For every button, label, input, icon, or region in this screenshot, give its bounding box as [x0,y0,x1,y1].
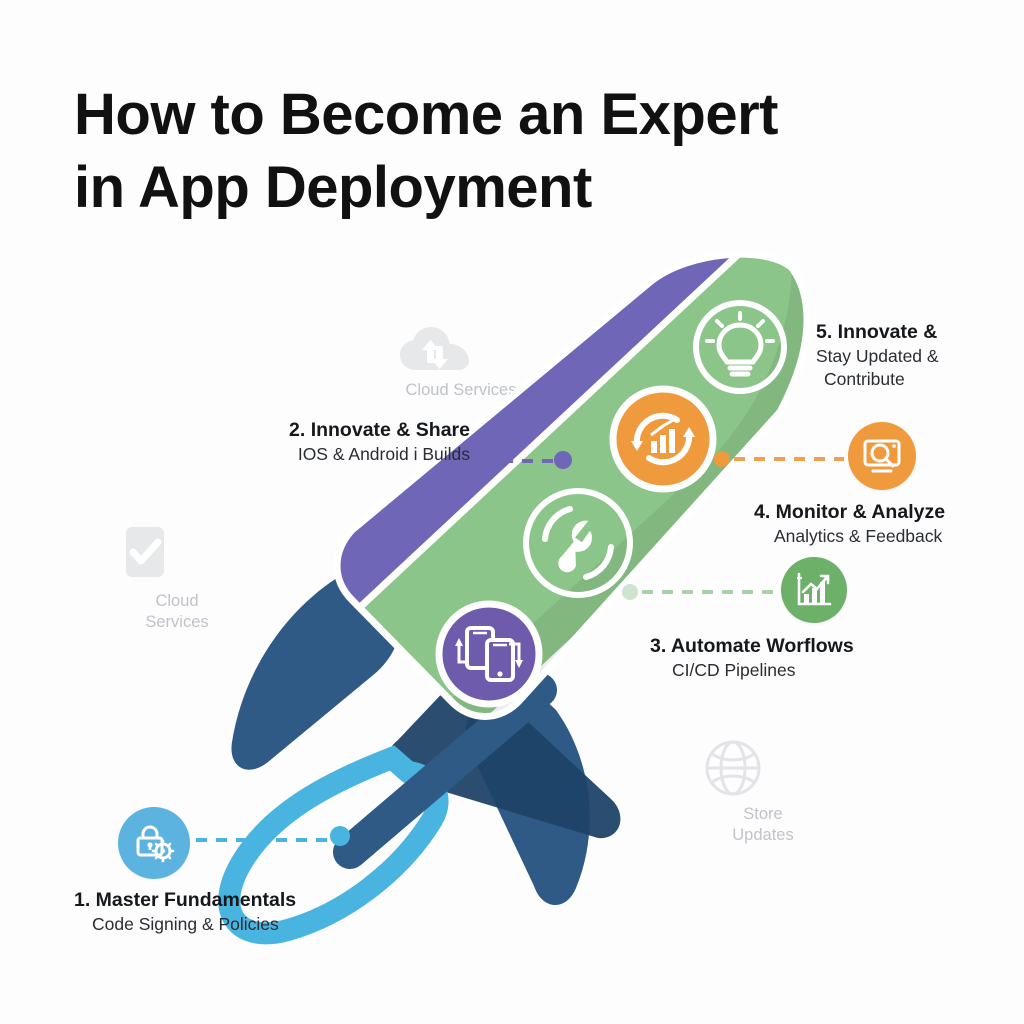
connector-dot-step-2 [554,451,572,469]
callout-step-5: 5. Innovate & Stay Updated & Contribute [816,320,1024,390]
connector-step-3 [622,584,778,600]
callout-step-4: 4. Monitor & Analyze Analytics & Feedbac… [754,500,1024,548]
rocket-badge-refresh-chart [613,389,713,489]
infographic-canvas: How to Become an Expert in App Deploymen… [0,0,1024,1024]
callout-step-2: 2. Innovate & Share IOS & Android i Buil… [196,418,470,466]
growth-chart-icon [794,570,834,610]
badge-lock-gear[interactable] [118,807,190,879]
step-5-subtitle-line2: Contribute [824,368,1024,391]
step-1-title: 1. Master Fundamentals [74,888,394,913]
connector-dot-step-3 [622,584,638,600]
badge-growth-chart[interactable] [781,557,847,623]
step-1-subtitle: Code Signing & Policies [92,913,394,936]
step-4-subtitle: Analytics & Feedback [774,525,1024,548]
callout-step-1: 1. Master Fundamentals Code Signing & Po… [74,888,394,936]
lock-gear-icon [132,821,176,865]
monitor-search-icon [861,435,903,477]
step-4-title: 4. Monitor & Analyze [754,500,1024,525]
step-5-title: 5. Innovate & [816,320,1024,345]
step-5-subtitle-line1: Stay Updated & [816,345,1024,368]
step-2-subtitle: IOS & Android i Builds [196,443,470,466]
step-3-subtitle: CI/CD Pipelines [672,659,950,682]
badge-monitor-search[interactable] [848,422,916,490]
step-2-title: 2. Innovate & Share [196,418,470,443]
step-3-title: 3. Automate Worflows [650,634,950,659]
callout-step-3: 3. Automate Worflows CI/CD Pipelines [650,634,950,682]
rocket-badge-devices [439,604,539,704]
connector-dot-step-4 [714,451,730,467]
